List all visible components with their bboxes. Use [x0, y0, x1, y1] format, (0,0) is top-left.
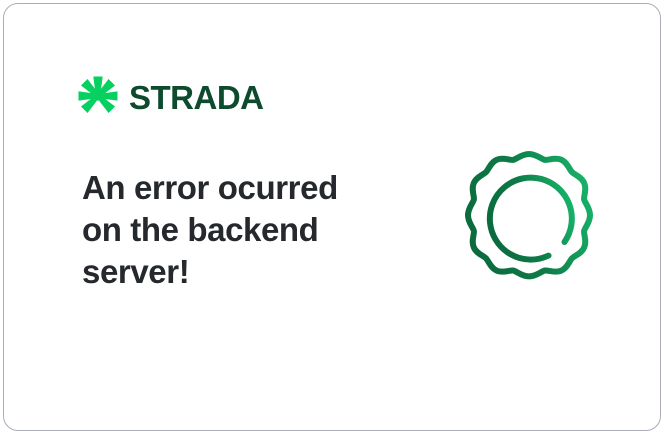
brand-lockup: STRADA — [76, 72, 264, 120]
error-message: An error ocurred on the backend server! — [82, 167, 382, 293]
error-card: STRADA An error ocurred on the backend s… — [3, 3, 661, 431]
gear-cog-icon — [448, 143, 610, 305]
strada-asterisk-icon — [76, 74, 120, 118]
error-message-line-2: on the backend — [82, 209, 382, 251]
error-message-line-3: server! — [82, 251, 382, 293]
error-message-line-1: An error ocurred — [82, 167, 382, 209]
gear-illustration — [448, 143, 610, 305]
brand-wordmark: STRADA — [129, 81, 264, 114]
